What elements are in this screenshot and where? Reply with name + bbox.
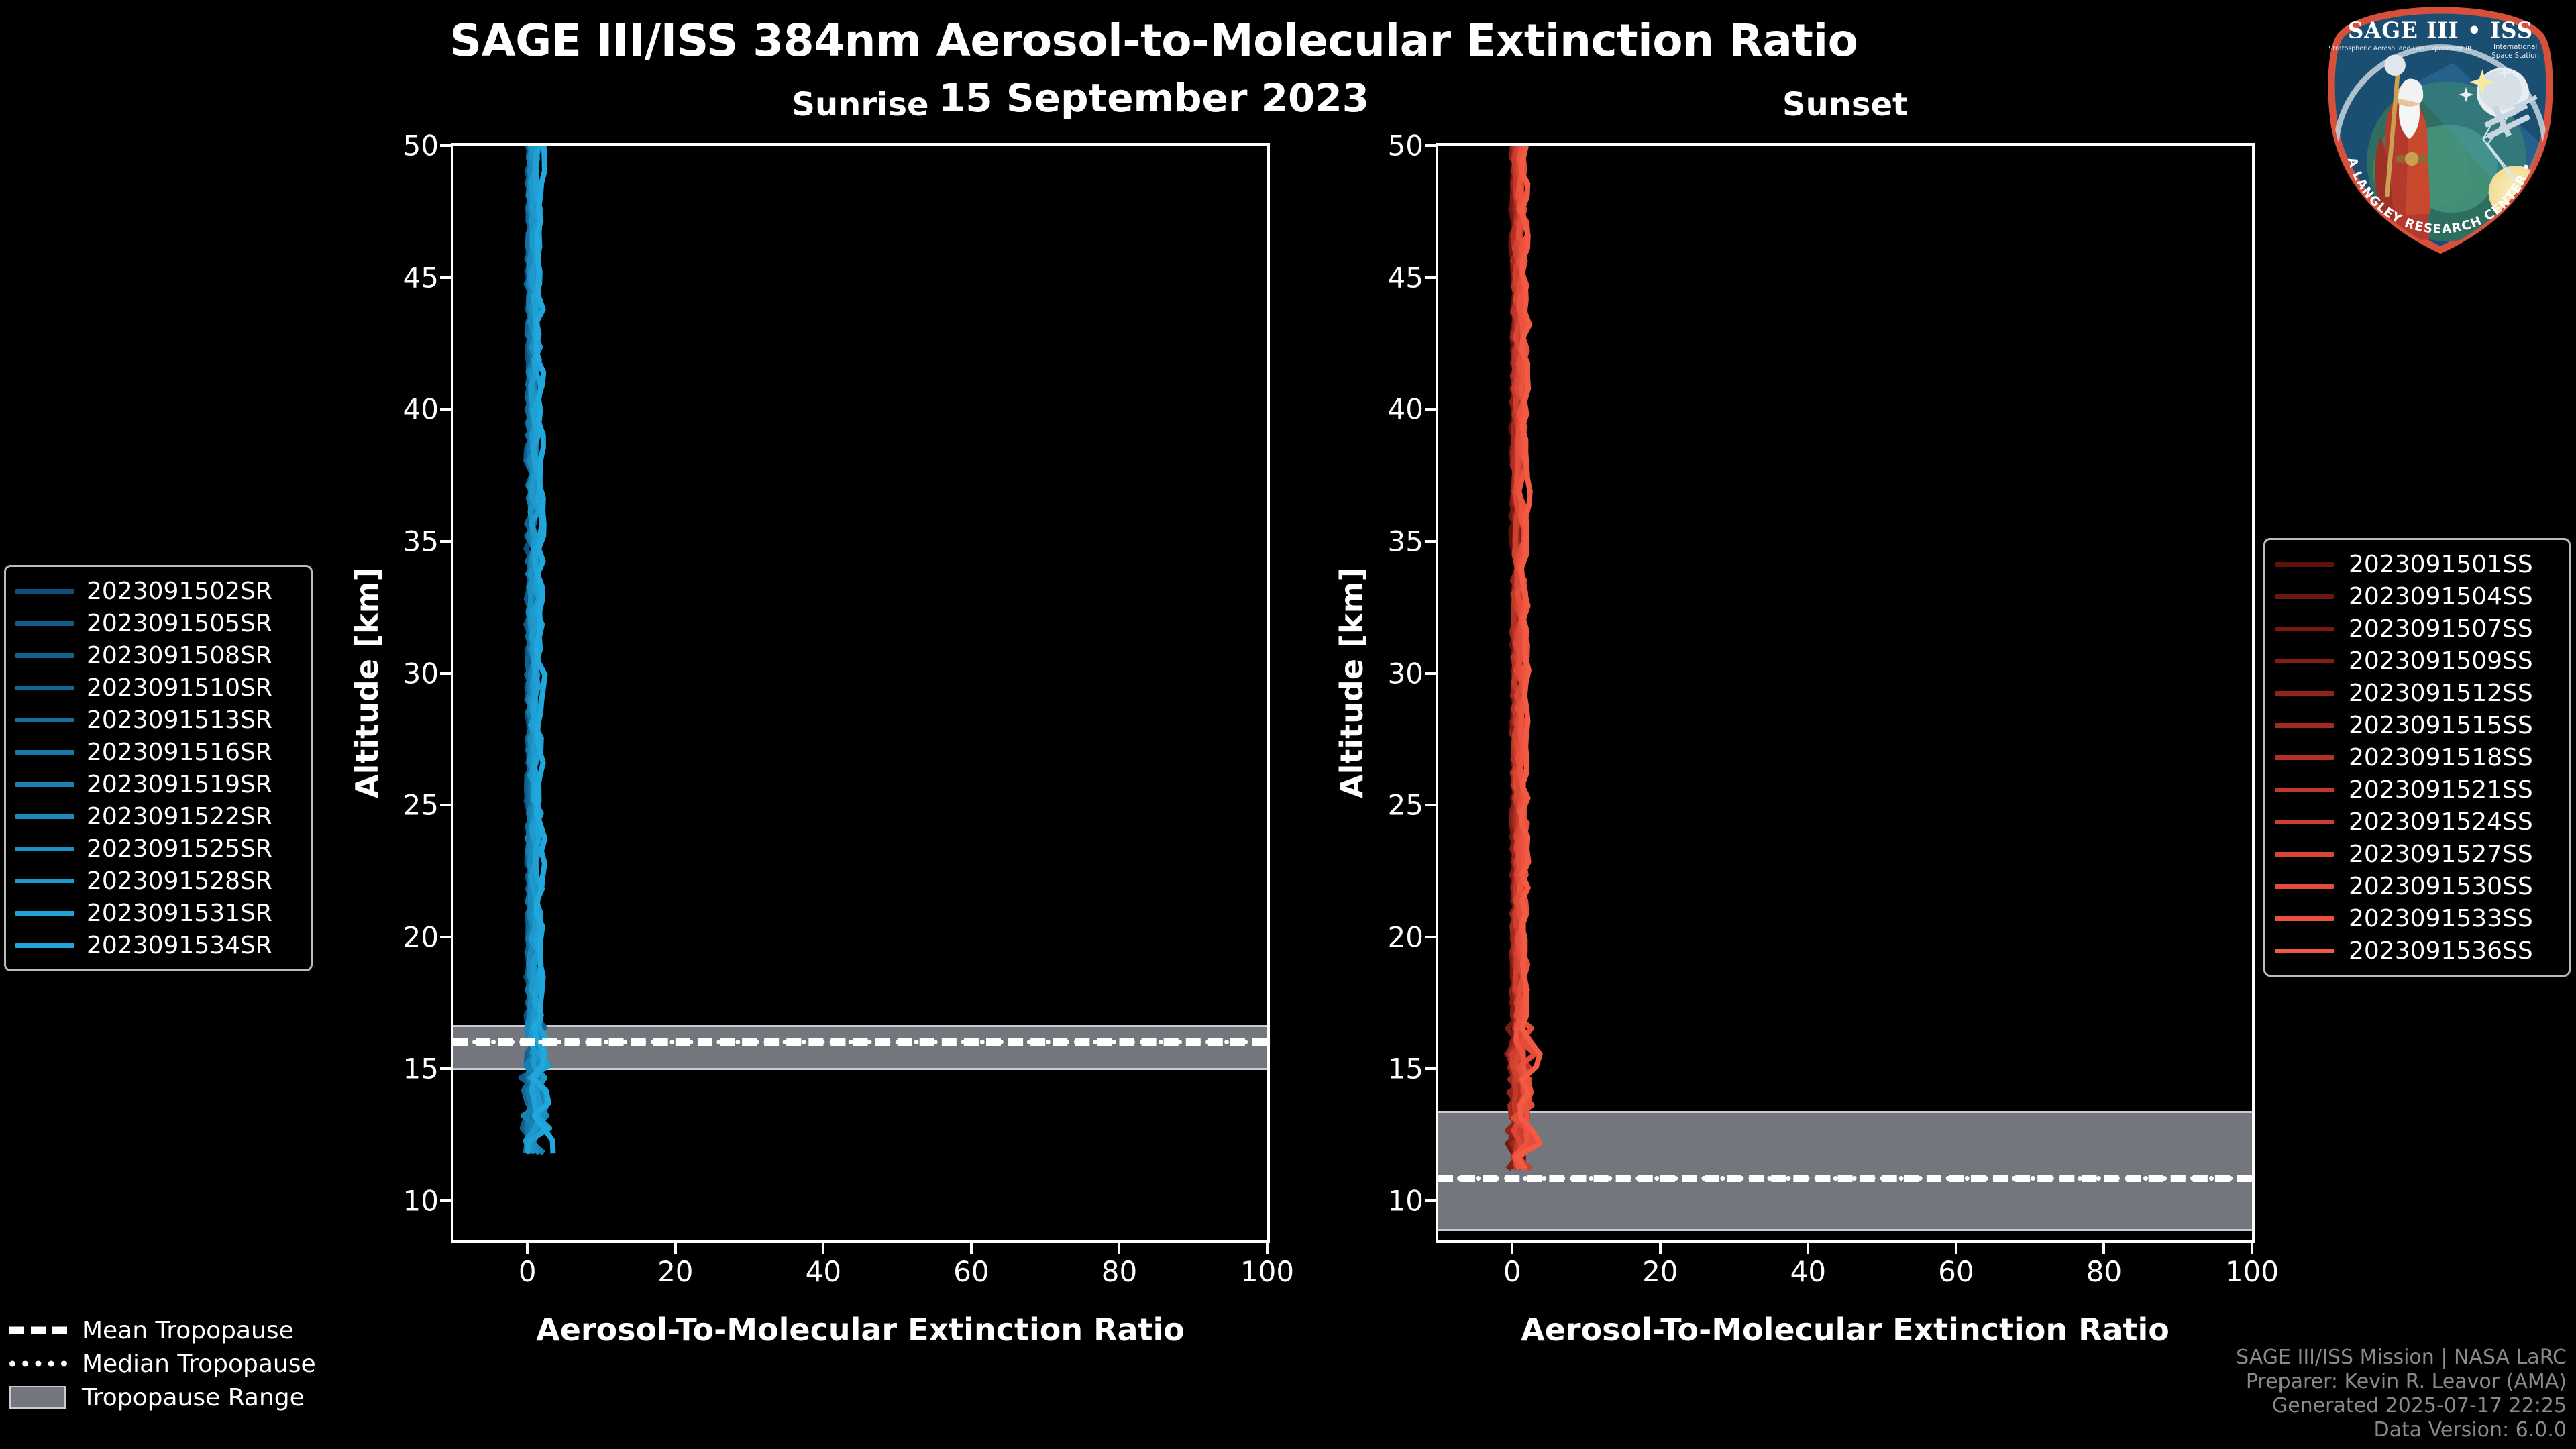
page-title: SAGE III/ISS 384nm Aerosol-to-Molecular … xyxy=(0,15,2308,66)
patch-subtitle-right-2: Space Station xyxy=(2491,52,2539,60)
y-tick-mark xyxy=(440,276,451,279)
x-tick-label: 20 xyxy=(1642,1255,1678,1288)
legend-color-swatch xyxy=(2275,659,2334,663)
figure-canvas: SAGE III/ISS 384nm Aerosol-to-Molecular … xyxy=(0,0,2576,1449)
y-tick-mark xyxy=(1425,936,1436,938)
x-tick-label: 20 xyxy=(657,1255,693,1288)
legend-item[interactable]: 2023091507SS xyxy=(2275,612,2559,645)
legend-item[interactable]: 2023091509SS xyxy=(2275,645,2559,677)
x-tick-mark xyxy=(1955,1243,1957,1254)
y-tick-label: 30 xyxy=(1362,657,1424,690)
legend-series-label: 2023091519SR xyxy=(87,771,272,798)
legend-item[interactable]: 2023091516SR xyxy=(15,736,301,768)
legend-item[interactable]: 2023091510SR xyxy=(15,672,301,704)
y-tick-label: 45 xyxy=(377,261,439,294)
legend-series-label: 2023091508SR xyxy=(87,642,272,669)
legend-color-swatch xyxy=(2275,884,2334,889)
x-tick-label: 0 xyxy=(519,1255,537,1288)
dotted-line-icon xyxy=(9,1356,67,1371)
legend-series-label: 2023091515SS xyxy=(2349,712,2533,739)
y-tick-mark xyxy=(1425,1199,1436,1202)
x-tick-mark xyxy=(1511,1243,1513,1254)
legend-item[interactable]: 2023091504SS xyxy=(2275,580,2559,612)
x-tick-label: 40 xyxy=(806,1255,841,1288)
legend-item[interactable]: 2023091513SR xyxy=(15,704,301,736)
tropopause-legend: Mean Tropopause Median Tropopause Tropop… xyxy=(9,1313,316,1414)
legend-color-swatch xyxy=(2275,691,2334,696)
x-tick-mark xyxy=(526,1243,529,1254)
legend-color-swatch xyxy=(15,814,74,819)
legend-item[interactable]: 2023091536SS xyxy=(2275,934,2559,967)
legend-color-swatch xyxy=(2275,562,2334,567)
profile-traces-sunrise xyxy=(453,146,1267,1240)
patch-subtitle-right-1: International xyxy=(2493,44,2537,51)
legend-item[interactable]: 2023091533SS xyxy=(2275,902,2559,934)
y-tick-mark xyxy=(440,804,451,806)
patch-title: SAGE III • ISS xyxy=(2348,17,2533,43)
sage-iii-iss-mission-patch-logo: SAGE III • ISS Stratospheric Aerosol and… xyxy=(2316,5,2565,255)
legend-series-label: 2023091501SS xyxy=(2349,551,2533,578)
y-tick-mark xyxy=(440,144,451,147)
filled-band-icon xyxy=(9,1390,67,1405)
y-tick-mark xyxy=(440,540,451,543)
legend-color-swatch xyxy=(2275,755,2334,760)
legend-color-swatch xyxy=(15,847,74,851)
y-tick-label: 50 xyxy=(1362,129,1424,162)
plot-inner-sunset xyxy=(1438,146,2252,1240)
legend-series-label: 2023091505SR xyxy=(87,610,272,637)
legend-series-label: 2023091504SS xyxy=(2349,583,2533,610)
legend-series-label: 2023091524SS xyxy=(2349,808,2533,836)
x-axis-title-sunset: Aerosol-To-Molecular Extinction Ratio xyxy=(1436,1311,2255,1348)
legend-series-label: 2023091516SR xyxy=(87,739,272,766)
legend-item[interactable]: 2023091528SR xyxy=(15,865,301,897)
legend-sunset[interactable]: 2023091501SS2023091504SS2023091507SS2023… xyxy=(2263,538,2571,977)
x-tick-mark xyxy=(970,1243,973,1254)
panel-title-sunset: Sunset xyxy=(1436,86,2255,123)
legend-color-swatch xyxy=(15,782,74,787)
legend-color-swatch xyxy=(2275,852,2334,857)
legend-color-swatch xyxy=(2275,820,2334,824)
legend-color-swatch xyxy=(2275,627,2334,631)
y-tick-label: 20 xyxy=(377,920,439,953)
patch-subtitle-left: Stratospheric Aerosol and Gas Experiment… xyxy=(2328,45,2471,52)
legend-series-label: 2023091525SR xyxy=(87,835,272,863)
y-tick-label: 20 xyxy=(1362,920,1424,953)
legend-item[interactable]: 2023091512SS xyxy=(2275,677,2559,709)
legend-sunrise[interactable]: 2023091502SR2023091505SR2023091508SR2023… xyxy=(4,565,313,971)
legend-item[interactable]: 2023091515SS xyxy=(2275,709,2559,741)
x-tick-mark xyxy=(2102,1243,2105,1254)
legend-item[interactable]: 2023091508SR xyxy=(15,639,301,672)
y-tick-mark xyxy=(440,1199,451,1202)
y-tick-label: 40 xyxy=(1362,393,1424,426)
x-tick-label: 60 xyxy=(1938,1255,1974,1288)
legend-color-swatch xyxy=(15,653,74,658)
legend-color-swatch xyxy=(15,943,74,948)
legend-series-label: 2023091518SS xyxy=(2349,744,2533,771)
y-tick-mark xyxy=(1425,276,1436,279)
median-tropopause-line xyxy=(453,1040,1267,1044)
y-tick-label: 35 xyxy=(1362,525,1424,557)
plot-area-sunrise[interactable] xyxy=(451,143,1270,1243)
y-tick-label: 25 xyxy=(1362,789,1424,822)
y-tick-mark xyxy=(440,408,451,411)
median-tropopause-line xyxy=(1438,1176,2252,1181)
x-tick-mark xyxy=(2251,1243,2253,1254)
legend-series-label: 2023091533SS xyxy=(2349,905,2533,932)
legend-item[interactable]: 2023091522SR xyxy=(15,800,301,833)
x-axis-title-sunrise: Aerosol-To-Molecular Extinction Ratio xyxy=(451,1311,1270,1348)
x-tick-label: 80 xyxy=(2086,1255,2122,1288)
y-tick-label: 25 xyxy=(377,789,439,822)
y-axis-title-sunset: Altitude [km] xyxy=(1334,567,1370,798)
legend-series-label: 2023091507SS xyxy=(2349,615,2533,643)
legend-color-swatch xyxy=(15,911,74,916)
x-tick-label: 0 xyxy=(1503,1255,1521,1288)
x-tick-mark xyxy=(1266,1243,1269,1254)
x-tick-label: 100 xyxy=(2225,1255,2279,1288)
legend-item[interactable]: 2023091521SS xyxy=(2275,773,2559,806)
legend-series-label: 2023091536SS xyxy=(2349,937,2533,965)
y-tick-label: 45 xyxy=(1362,261,1424,294)
legend-item[interactable]: 2023091525SR xyxy=(15,833,301,865)
y-tick-label: 15 xyxy=(377,1053,439,1085)
legend-series-label: 2023091509SS xyxy=(2349,647,2533,675)
legend-series-label: 2023091528SR xyxy=(87,867,272,895)
y-tick-mark xyxy=(1425,408,1436,411)
legend-color-swatch xyxy=(2275,916,2334,921)
legend-color-swatch xyxy=(15,621,74,626)
x-tick-mark xyxy=(1807,1243,1809,1254)
x-tick-label: 80 xyxy=(1102,1255,1137,1288)
legend-series-label: 2023091534SR xyxy=(87,932,272,959)
profile-traces-sunset xyxy=(1438,146,2252,1240)
legend-color-swatch xyxy=(15,879,74,883)
credits-line-version: Data Version: 6.0.0 xyxy=(2236,1418,2567,1442)
legend-color-swatch xyxy=(15,589,74,594)
y-tick-label: 15 xyxy=(1362,1053,1424,1085)
y-tick-label: 40 xyxy=(377,393,439,426)
y-tick-mark xyxy=(1425,144,1436,147)
legend-color-swatch xyxy=(2275,594,2334,599)
legend-item[interactable]: 2023091531SR xyxy=(15,897,301,929)
panel-title-sunrise: Sunrise xyxy=(451,86,1270,123)
legend-item[interactable]: 2023091530SS xyxy=(2275,870,2559,902)
legend-color-swatch xyxy=(15,686,74,690)
y-tick-label: 35 xyxy=(377,525,439,557)
legend-color-swatch xyxy=(15,718,74,722)
dashed-line-icon xyxy=(9,1323,67,1338)
legend-series-label: 2023091502SR xyxy=(87,578,272,605)
legend-series-label: 2023091521SS xyxy=(2349,776,2533,804)
x-tick-mark xyxy=(822,1243,824,1254)
legend-item[interactable]: 2023091501SS xyxy=(2275,548,2559,580)
legend-series-label: 2023091513SR xyxy=(87,706,272,734)
x-tick-label: 40 xyxy=(1790,1255,1826,1288)
y-tick-label: 30 xyxy=(377,657,439,690)
legend-color-swatch xyxy=(2275,788,2334,792)
legend-color-swatch xyxy=(2275,949,2334,953)
legend-item-mean-tropopause: Mean Tropopause xyxy=(9,1313,316,1347)
legend-item[interactable]: 2023091524SS xyxy=(2275,806,2559,838)
y-tick-mark xyxy=(440,1067,451,1070)
legend-series-label: 2023091510SR xyxy=(87,674,272,702)
legend-label-range: Tropopause Range xyxy=(82,1384,305,1411)
legend-color-swatch xyxy=(15,750,74,755)
legend-label-median: Median Tropopause xyxy=(82,1350,316,1378)
legend-series-label: 2023091531SR xyxy=(87,900,272,927)
y-axis-title-sunrise: Altitude [km] xyxy=(349,567,385,798)
plot-area-sunset[interactable] xyxy=(1436,143,2255,1243)
y-tick-label: 10 xyxy=(1362,1185,1424,1218)
y-tick-label: 50 xyxy=(377,129,439,162)
x-tick-label: 60 xyxy=(953,1255,989,1288)
legend-item-median-tropopause: Median Tropopause xyxy=(9,1347,316,1381)
y-tick-mark xyxy=(440,936,451,938)
legend-item[interactable]: 2023091527SS xyxy=(2275,838,2559,870)
legend-item[interactable]: 2023091534SR xyxy=(15,929,301,961)
legend-color-swatch xyxy=(2275,723,2334,728)
legend-item[interactable]: 2023091518SS xyxy=(2275,741,2559,773)
legend-label-mean: Mean Tropopause xyxy=(82,1317,294,1344)
plot-inner-sunrise xyxy=(453,146,1267,1240)
credits-line-mission: SAGE III/ISS Mission | NASA LaRC xyxy=(2236,1346,2567,1370)
credits-line-generated: Generated 2025-07-17 22:25 xyxy=(2236,1394,2567,1418)
legend-series-label: 2023091522SR xyxy=(87,803,272,830)
y-tick-mark xyxy=(1425,672,1436,675)
y-tick-mark xyxy=(1425,540,1436,543)
legend-item[interactable]: 2023091505SR xyxy=(15,607,301,639)
legend-item[interactable]: 2023091502SR xyxy=(15,575,301,607)
legend-series-label: 2023091530SS xyxy=(2349,873,2533,900)
legend-item[interactable]: 2023091519SR xyxy=(15,768,301,800)
x-tick-label: 100 xyxy=(1240,1255,1294,1288)
legend-series-label: 2023091512SS xyxy=(2349,680,2533,707)
y-tick-mark xyxy=(1425,804,1436,806)
credits-line-preparer: Preparer: Kevin R. Leavor (AMA) xyxy=(2236,1370,2567,1394)
x-tick-mark xyxy=(674,1243,677,1254)
x-tick-mark xyxy=(1659,1243,1662,1254)
y-tick-mark xyxy=(440,672,451,675)
legend-item-tropopause-range: Tropopause Range xyxy=(9,1381,316,1414)
legend-series-label: 2023091527SS xyxy=(2349,841,2533,868)
y-tick-mark xyxy=(1425,1067,1436,1070)
x-tick-mark xyxy=(1118,1243,1120,1254)
y-tick-label: 10 xyxy=(377,1185,439,1218)
credits-block: SAGE III/ISS Mission | NASA LaRC Prepare… xyxy=(2236,1346,2567,1442)
